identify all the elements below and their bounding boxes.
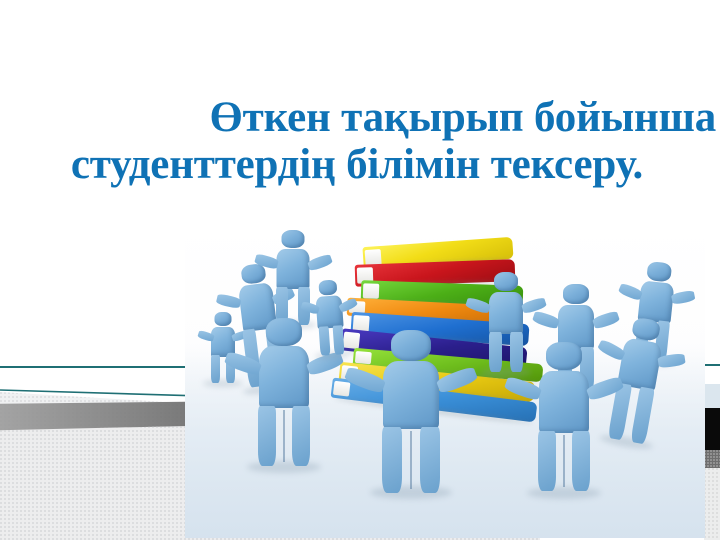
chip-pale-blue bbox=[704, 384, 720, 408]
figure-person bbox=[306, 279, 353, 358]
chip-teal-rule bbox=[704, 364, 720, 366]
chip-gray bbox=[704, 450, 720, 468]
slide-title-line-1: Өткен тақырып бойынша bbox=[24, 96, 716, 141]
chip-white-top bbox=[704, 358, 720, 364]
slide: Өткен тақырып бойынша студенттердің білі… bbox=[0, 0, 720, 540]
figure-person bbox=[363, 330, 459, 494]
chip-black bbox=[704, 408, 720, 450]
figure-person bbox=[521, 342, 607, 494]
illustration-books-and-people bbox=[185, 222, 705, 538]
slide-title: Өткен тақырып бойынша студенттердің білі… bbox=[24, 96, 716, 187]
chip-light-gray bbox=[704, 468, 720, 540]
right-edge-color-stack bbox=[704, 358, 720, 540]
slide-title-line-2: студенттердің білімін тексеру. bbox=[24, 143, 716, 188]
chip-white bbox=[704, 366, 720, 384]
